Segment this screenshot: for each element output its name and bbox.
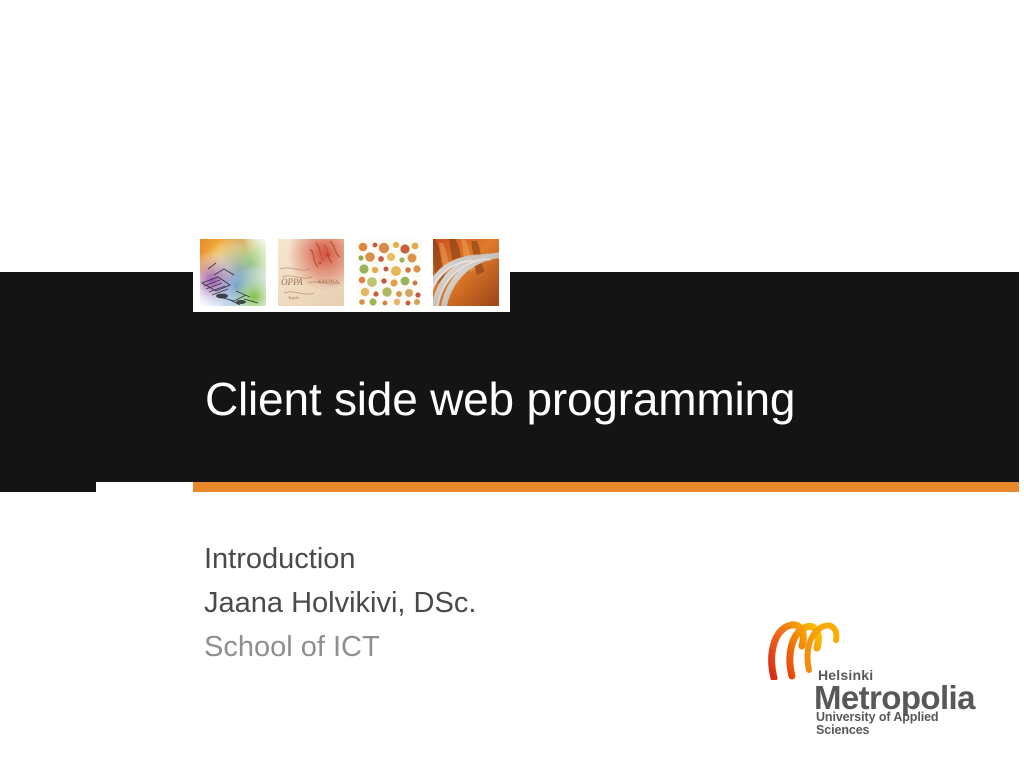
colored-dots-pattern-thumbnail — [356, 239, 422, 306]
orange-metal-arcs-thumbnail — [433, 239, 499, 306]
svg-text:OPPA: OPPA — [281, 277, 303, 287]
slide-title: Client side web programming — [205, 372, 995, 426]
svg-text:KARJALA: KARJALA — [317, 280, 339, 285]
subtitle-line-introduction: Introduction — [204, 537, 724, 581]
watercolor-abstract-thumbnail — [200, 239, 266, 306]
logo-tagline-text: University of Applied Sciences — [816, 711, 962, 737]
slide-subtitle: Introduction Jaana Holvikivi, DSc. Schoo… — [204, 537, 724, 669]
svg-text:Anjala: Anjala — [287, 295, 299, 300]
old-map-manuscript-thumbnail: OPPA KARJALA Anjala — [278, 239, 344, 306]
photo-strip: OPPA KARJALA Anjala — [193, 237, 510, 312]
subtitle-line-author: Jaana Holvikivi, DSc. — [204, 581, 724, 625]
subtitle-line-school: School of ICT — [204, 625, 724, 669]
metropolia-logo: Helsinki Metropolia University of Applie… — [762, 618, 962, 722]
orange-accent-rule — [193, 482, 1019, 492]
presentation-slide: OPPA KARJALA Anjala — [0, 0, 1024, 768]
band-bottom-tab — [0, 482, 96, 492]
